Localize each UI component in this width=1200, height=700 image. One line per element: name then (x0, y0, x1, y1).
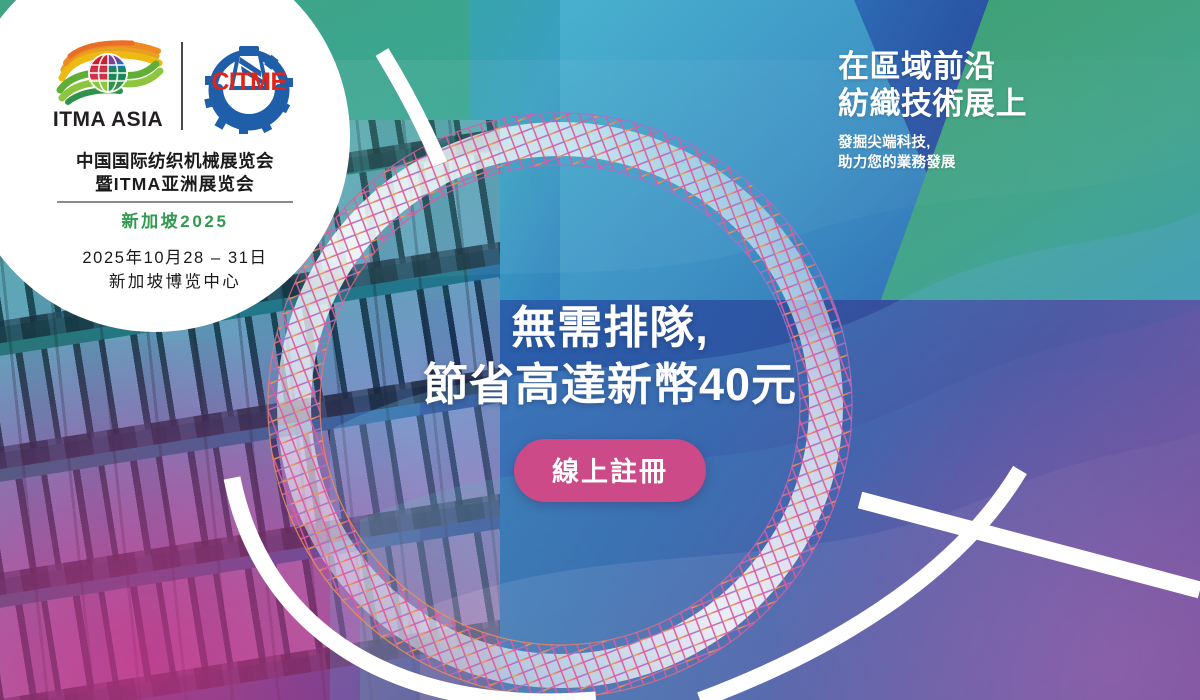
exhibition-title: 中国国际纺织机械展览会 暨ITMA亚洲展览会 (76, 150, 274, 196)
title-divider (57, 201, 293, 203)
top-right-headline: 在區域前沿 紡織技術展上 (838, 48, 1138, 122)
citme-logo: CITME (197, 38, 301, 134)
center-headline-line1: 無需排隊, (330, 300, 890, 357)
exhibition-title-line1: 中国国际纺织机械展览会 (76, 150, 274, 173)
top-right-subtitle-line1: 發掘尖端科技, (838, 133, 1138, 153)
register-online-button[interactable]: 線上註冊 (514, 439, 706, 502)
promo-banner: ITMA ASIA (0, 0, 1200, 700)
event-date-venue: 2025年10月28 – 31日 新加坡博览中心 (82, 247, 267, 295)
svg-text:CITME: CITME (211, 68, 286, 96)
top-right-headline-line1: 在區域前沿 (838, 48, 1138, 85)
exhibition-title-line2: 暨ITMA亚洲展览会 (76, 173, 274, 196)
logo-card-content: ITMA ASIA (0, 0, 350, 350)
logos-row: ITMA ASIA (49, 36, 301, 136)
center-headline-line2: 節省高達新幣40元 (330, 357, 890, 414)
itma-asia-logo: ITMA ASIA (49, 40, 167, 132)
center-copy: 無需排隊, 節省高達新幣40元 線上註冊 (330, 300, 890, 502)
city-year-label: 新加坡2025 (121, 207, 228, 232)
event-date: 2025年10月28 – 31日 (82, 247, 267, 271)
logo-divider (181, 42, 183, 130)
top-right-subtitle: 發掘尖端科技, 助力您的業務發展 (838, 133, 1138, 173)
itma-asia-globe-icon (52, 40, 164, 106)
itma-asia-wordmark: ITMA ASIA (53, 108, 163, 132)
top-right-copy: 在區域前沿 紡織技術展上 發掘尖端科技, 助力您的業務發展 (838, 48, 1138, 173)
top-right-headline-line2: 紡織技術展上 (838, 85, 1138, 122)
top-right-subtitle-line2: 助力您的業務發展 (838, 153, 1138, 173)
event-venue: 新加坡博览中心 (82, 271, 267, 295)
citme-bobbin-gear-icon: CITME (199, 38, 299, 134)
